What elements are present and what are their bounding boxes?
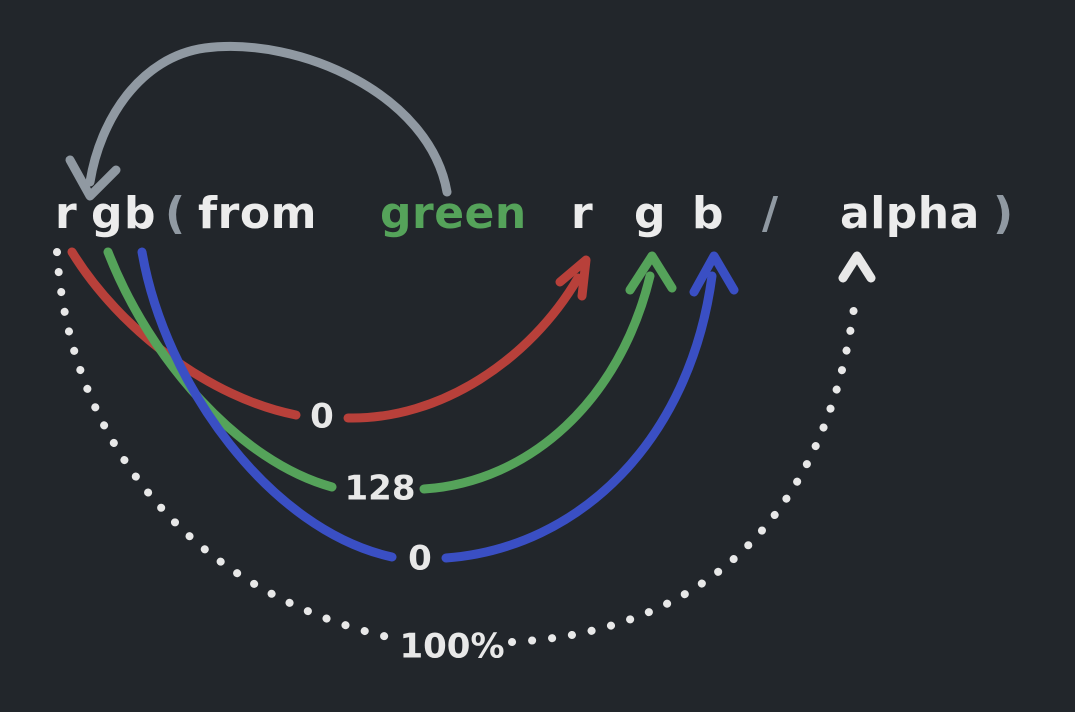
origin-color-arrow: [70, 46, 447, 196]
token-paren-open: (: [165, 188, 186, 239]
token-r-out: r: [55, 188, 77, 239]
token-channel-r: r: [571, 188, 593, 239]
alpha-channel-curve-left: [57, 252, 392, 638]
alpha-channel-arrow: [57, 252, 871, 642]
green-channel-value: 128: [345, 469, 416, 509]
alpha-channel-curve-right: [512, 292, 856, 642]
token-origin-color: green: [380, 188, 527, 239]
blue-channel-value: 0: [408, 539, 432, 579]
alpha-channel-value: 100%: [399, 627, 504, 667]
syntax-line: r g b ( from green r g b / alpha ): [55, 188, 1014, 239]
red-channel-curve-left: [72, 252, 296, 415]
token-channel-g: g: [634, 188, 666, 239]
token-alpha: alpha: [840, 188, 980, 239]
alpha-channel-arrowhead: [843, 256, 871, 278]
token-g-out: g: [91, 188, 123, 239]
diagram-canvas: 0 128 0 100% r g b ( from green r g b / …: [0, 0, 1075, 712]
token-slash: /: [762, 188, 779, 239]
red-channel-value: 0: [310, 397, 334, 437]
token-paren-close: ): [993, 188, 1014, 239]
green-channel-curve-right: [424, 276, 650, 489]
origin-color-arc: [90, 46, 447, 192]
token-channel-b: b: [692, 188, 724, 239]
token-b-out: b: [124, 188, 156, 239]
red-channel-curve-right: [348, 278, 578, 418]
token-from: from: [198, 188, 317, 239]
green-channel-curve-left: [108, 252, 332, 487]
diagram-svg: 0 128 0 100% r g b ( from green r g b / …: [0, 0, 1075, 712]
